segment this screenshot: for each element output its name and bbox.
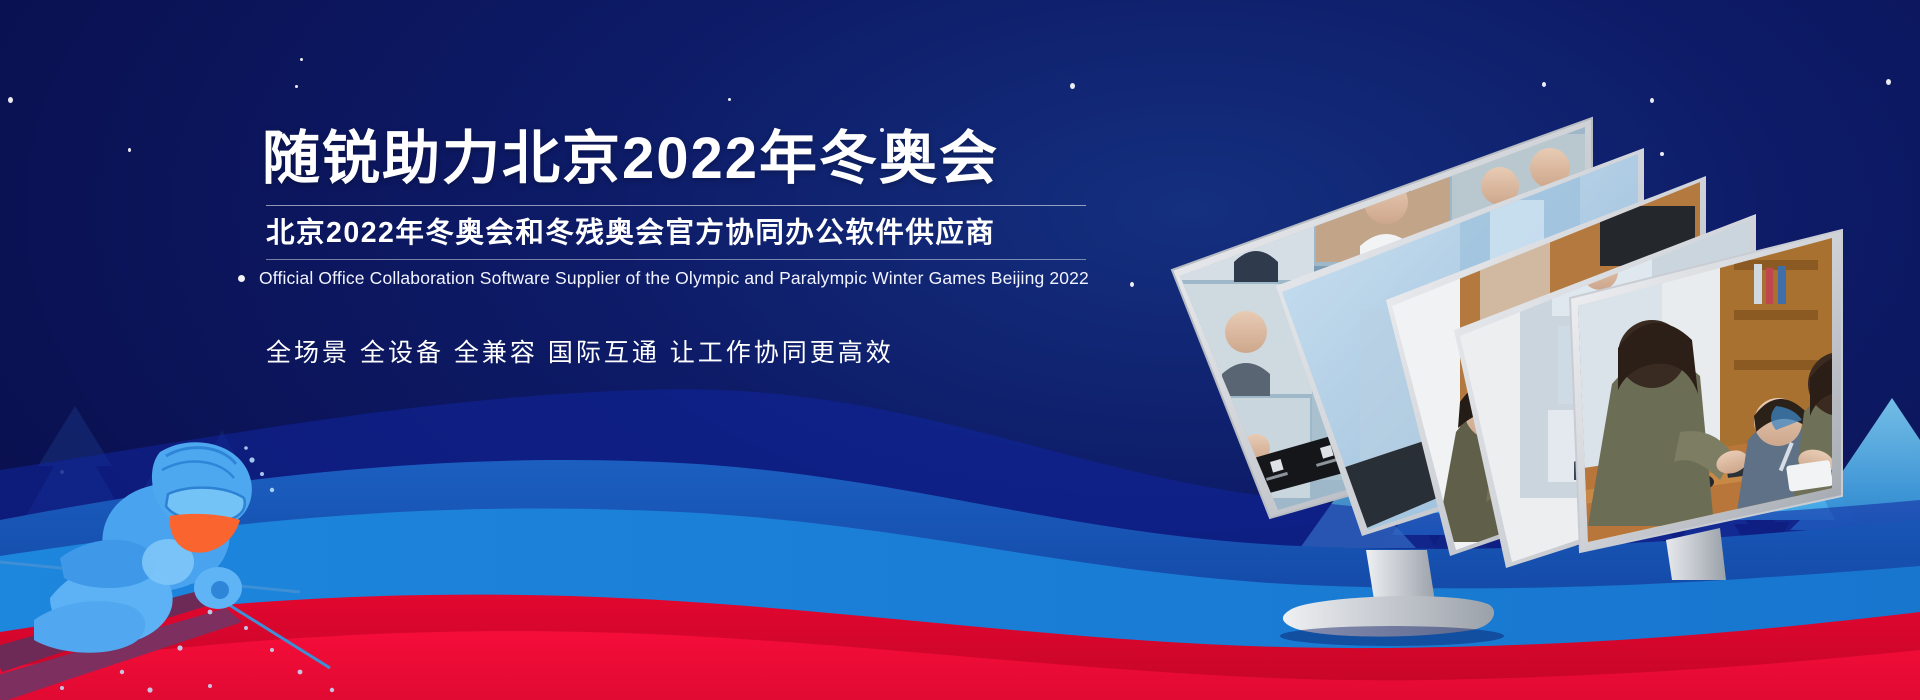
headline-block: 随锐助力北京2022年冬奥会 北京2022年冬奥会和冬残奥会官方协同办公软件供应… bbox=[262, 128, 1092, 369]
subtitle-english-row: Official Office Collaboration Software S… bbox=[238, 268, 1092, 289]
bullet-dot-icon bbox=[238, 275, 245, 282]
tagline: 全场景 全设备 全兼容 国际互通 让工作协同更高效 bbox=[266, 333, 1092, 369]
stacked-screens bbox=[1160, 110, 1920, 580]
olympic-promo-banner: 随锐助力北京2022年冬奥会 北京2022年冬奥会和冬残奥会官方协同办公软件供应… bbox=[0, 0, 1920, 700]
subtitle-english: Official Office Collaboration Software S… bbox=[259, 268, 1089, 289]
video-conference-device-cluster bbox=[1160, 110, 1920, 580]
divider-top bbox=[266, 205, 1086, 206]
divider-bottom bbox=[266, 259, 1086, 260]
page-title: 随锐助力北京2022年冬奥会 bbox=[262, 128, 1092, 191]
subtitle-chinese: 北京2022年冬奥会和冬残奥会官方协同办公软件供应商 bbox=[266, 216, 1092, 250]
monitor-base bbox=[1250, 550, 1670, 660]
